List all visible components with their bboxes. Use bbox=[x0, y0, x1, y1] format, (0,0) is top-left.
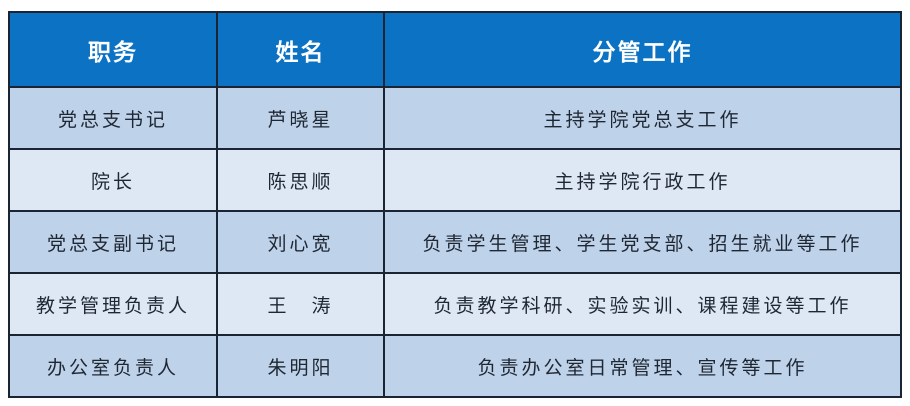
cell-work: 负责教学科研、实验实训、课程建设等工作 bbox=[384, 273, 901, 335]
cell-post: 办公室负责人 bbox=[9, 335, 217, 397]
cell-post: 党总支书记 bbox=[9, 87, 217, 149]
column-header-name: 姓名 bbox=[217, 12, 384, 87]
table-header: 职务 姓名 分管工作 bbox=[9, 12, 901, 87]
cell-post-text: 党总支书记 bbox=[58, 105, 168, 132]
table-row: 教学管理负责人王 涛负责教学科研、实验实训、课程建设等工作 bbox=[9, 273, 901, 335]
cell-name: 朱明阳 bbox=[217, 335, 384, 397]
cell-post: 教学管理负责人 bbox=[9, 273, 217, 335]
cell-post-text: 院长 bbox=[91, 167, 135, 194]
cell-work: 主持学院行政工作 bbox=[384, 149, 901, 211]
cell-work-text: 主持学院党总支工作 bbox=[543, 105, 741, 132]
column-header-post: 职务 bbox=[9, 12, 217, 87]
cell-name-text: 刘心宽 bbox=[267, 229, 333, 256]
cell-name-text: 王 涛 bbox=[267, 291, 333, 318]
cell-name: 王 涛 bbox=[217, 273, 384, 335]
table-row: 院长陈思顺主持学院行政工作 bbox=[9, 149, 901, 211]
cell-post-text: 办公室负责人 bbox=[47, 353, 179, 380]
cell-name: 陈思顺 bbox=[217, 149, 384, 211]
cell-work: 负责办公室日常管理、宣传等工作 bbox=[384, 335, 901, 397]
cell-work-text: 负责教学科研、实验实训、课程建设等工作 bbox=[433, 291, 851, 318]
cell-post: 党总支副书记 bbox=[9, 211, 217, 273]
page-root: 职务 姓名 分管工作 党总支书记芦晓星主持学院党总支工作院长陈思顺主持学院行政工… bbox=[0, 0, 910, 406]
header-row: 职务 姓名 分管工作 bbox=[9, 12, 901, 87]
cell-name: 刘心宽 bbox=[217, 211, 384, 273]
cell-name: 芦晓星 bbox=[217, 87, 384, 149]
cell-name-text: 朱明阳 bbox=[267, 353, 333, 380]
column-header-work: 分管工作 bbox=[384, 12, 901, 87]
cell-name-text: 陈思顺 bbox=[267, 167, 333, 194]
cell-post: 院长 bbox=[9, 149, 217, 211]
cell-work-text: 负责学生管理、学生党支部、招生就业等工作 bbox=[422, 229, 862, 256]
cell-work-text: 主持学院行政工作 bbox=[554, 167, 730, 194]
table-row: 党总支副书记刘心宽负责学生管理、学生党支部、招生就业等工作 bbox=[9, 211, 901, 273]
cell-name-text: 芦晓星 bbox=[267, 105, 333, 132]
table-body: 党总支书记芦晓星主持学院党总支工作院长陈思顺主持学院行政工作党总支副书记刘心宽负… bbox=[9, 87, 901, 397]
table-row: 党总支书记芦晓星主持学院党总支工作 bbox=[9, 87, 901, 149]
leadership-duty-table: 职务 姓名 分管工作 党总支书记芦晓星主持学院党总支工作院长陈思顺主持学院行政工… bbox=[8, 11, 902, 398]
cell-work: 主持学院党总支工作 bbox=[384, 87, 901, 149]
cell-post-text: 教学管理负责人 bbox=[36, 291, 190, 318]
cell-post-text: 党总支副书记 bbox=[47, 229, 179, 256]
cell-work: 负责学生管理、学生党支部、招生就业等工作 bbox=[384, 211, 901, 273]
cell-work-text: 负责办公室日常管理、宣传等工作 bbox=[477, 353, 807, 380]
table-row: 办公室负责人朱明阳负责办公室日常管理、宣传等工作 bbox=[9, 335, 901, 397]
